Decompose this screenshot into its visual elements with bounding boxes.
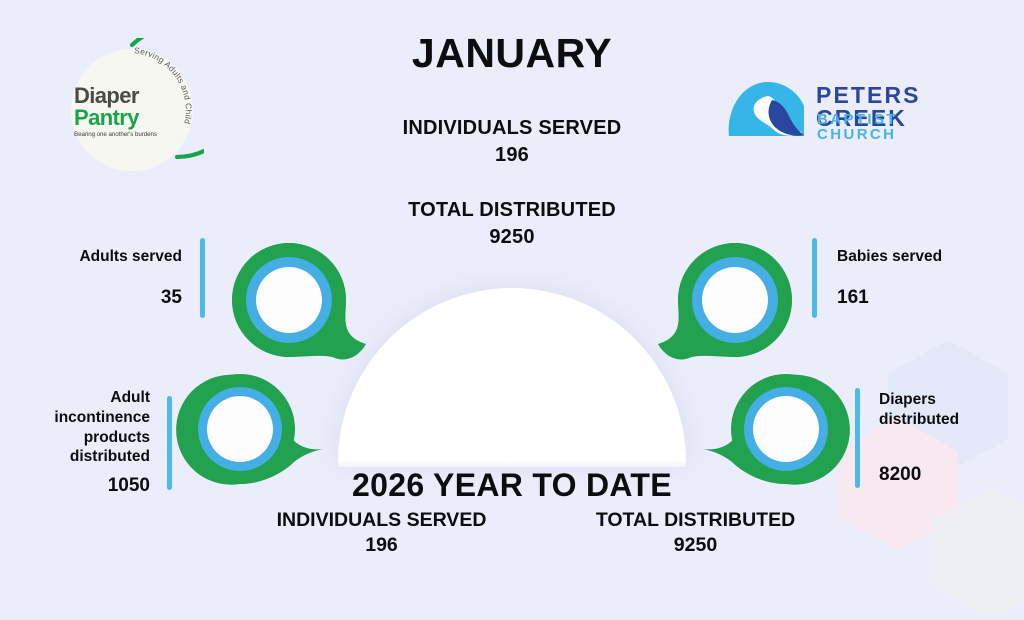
stat-adults-served-label: Adults served <box>60 247 182 267</box>
header-individuals-served-value: 196 <box>0 142 1024 169</box>
hexagon-grey-watermark <box>932 488 1024 620</box>
infographic-canvas: Serving Adults and Children Diaper Pantr… <box>0 0 1024 576</box>
stat-adults-served-accent-bar <box>200 238 205 318</box>
stat-adults-served: Adults served 35 <box>60 238 210 318</box>
header-individuals-served: INDIVIDUALS SERVED 196 <box>0 115 1024 169</box>
header-total-distributed-label: TOTAL DISTRIBUTED <box>408 199 616 221</box>
stat-babies-served-text: Babies served 161 <box>837 247 942 310</box>
ytd-total-distributed-value: 9250 <box>558 533 833 558</box>
stat-babies-served-value: 161 <box>837 288 942 309</box>
logo-word-diaper: Diaper <box>74 86 184 107</box>
header-individuals-served-label: INDIVIDUALS SERVED <box>403 117 622 139</box>
stat-adults-served-value: 35 <box>60 288 182 309</box>
stat-diapers-distributed-label: Diapers distributed <box>879 390 1020 430</box>
stat-babies-served: Babies served 161 <box>812 238 987 318</box>
center-dome-shape <box>338 288 686 462</box>
stat-adults-served-text: Adults served 35 <box>60 247 182 310</box>
ytd-individuals-served-label: INDIVIDUALS SERVED <box>244 508 519 533</box>
stat-babies-served-accent-bar <box>812 238 817 318</box>
ytd-individuals-served-value: 196 <box>244 533 519 558</box>
center-dome-base <box>338 460 686 467</box>
stat-adult-incontinence-label: Adult incontinence products distributed <box>20 388 150 467</box>
year-to-date-title: 2026 YEAR TO DATE <box>0 469 1024 501</box>
stat-babies-served-label: Babies served <box>837 247 942 267</box>
ytd-total-distributed-label: TOTAL DISTRIBUTED <box>558 508 833 533</box>
page-title-month: JANUARY <box>0 33 1024 74</box>
ytd-individuals-served: INDIVIDUALS SERVED 196 <box>244 508 519 559</box>
ytd-total-distributed: TOTAL DISTRIBUTED 9250 <box>558 508 833 559</box>
